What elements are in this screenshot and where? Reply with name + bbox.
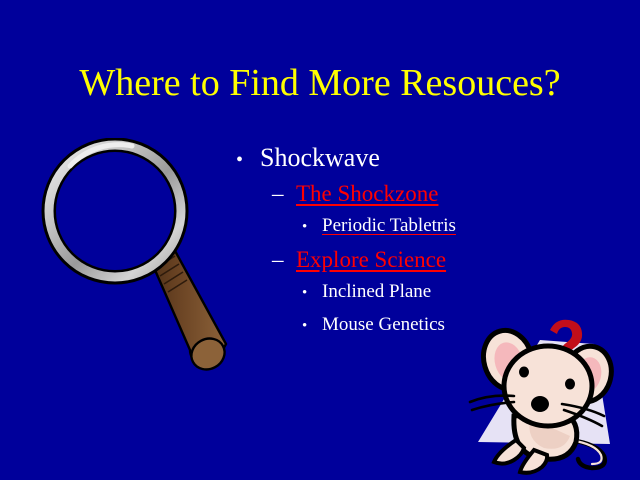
presentation-slide: Where to Find More Resouces?	[0, 0, 640, 480]
bullet-marker: •	[302, 311, 322, 342]
list-item: •Shockwave	[236, 141, 566, 177]
slide-title: Where to Find More Resouces?	[0, 62, 640, 104]
list-item-label: Shockwave	[260, 141, 380, 175]
list-item-label: Inclined Plane	[322, 276, 431, 307]
list-item: –Explore Science	[236, 243, 566, 276]
list-item: –The Shockzone	[236, 177, 566, 210]
dash-marker: –	[272, 243, 296, 276]
mouse-nose	[531, 396, 549, 412]
mouse-eye-left	[519, 367, 529, 378]
magnifying-glass-image	[40, 138, 240, 373]
link-explore-science[interactable]: Explore Science	[296, 243, 446, 276]
link-periodic-tabletris[interactable]: Periodic Tabletris	[322, 210, 456, 241]
magnifier-ring	[44, 140, 187, 283]
list-item: •Periodic Tabletris	[236, 210, 566, 243]
bullet-marker: •	[236, 143, 260, 177]
list-item-label: Mouse Genetics	[322, 309, 445, 340]
link-the-shockzone[interactable]: The Shockzone	[296, 177, 438, 210]
dash-marker: –	[272, 177, 296, 210]
cartoon-mouse-image	[452, 312, 640, 480]
bullet-marker: •	[302, 278, 322, 309]
list-item: •Inclined Plane	[236, 276, 566, 309]
bullet-marker: •	[302, 212, 322, 243]
mouse-eye-right	[565, 379, 575, 390]
